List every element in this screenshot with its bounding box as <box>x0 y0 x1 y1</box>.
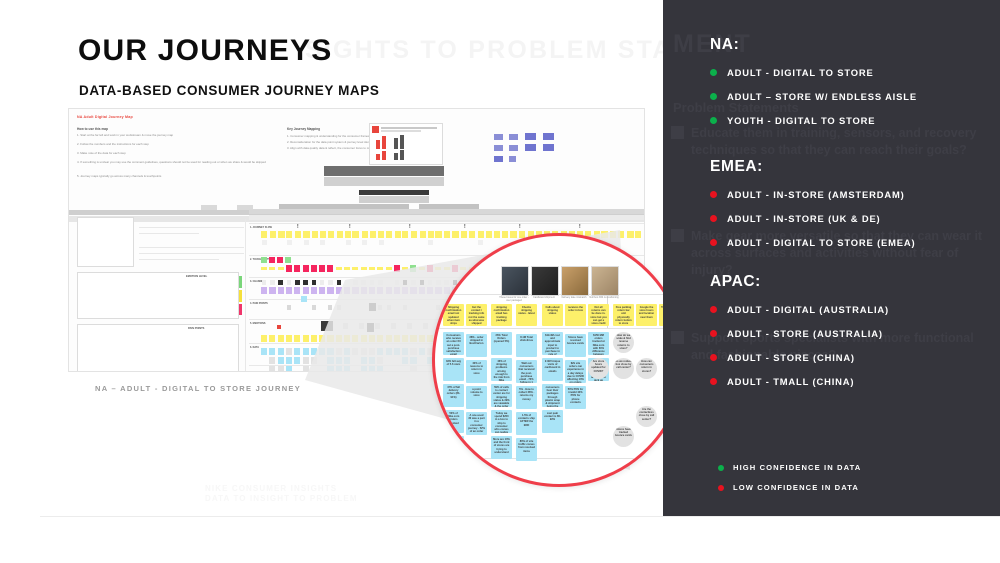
map-sticky-note <box>287 305 291 310</box>
legend-item: HIGH CONFIDENCE IN DATA <box>718 463 861 472</box>
sticky-note-text: 16%/over ship after the expected deliver… <box>443 436 464 453</box>
sticky-note-text: a point volume to store <box>466 386 487 400</box>
map-painpoint-label: PAIN POINTS <box>188 327 204 330</box>
map-sticky-note <box>286 335 292 342</box>
sticky-note-text: cast pain contact is 80-92% <box>542 410 563 424</box>
map-sticky-note <box>269 348 275 355</box>
sticky-note-text: $150 MM orders tracked at Nike.com with … <box>588 332 609 355</box>
map-table-strip-1 <box>324 166 444 176</box>
magnifier-cyan-note: cast pain contact is 80-92% <box>542 410 563 433</box>
map-emotion-label: EMOTION LEVEL <box>186 275 207 278</box>
map-row-label-5: 5. EMOTIONS <box>250 322 265 325</box>
map-sticky-note <box>295 280 300 285</box>
low-confidence-dot-icon <box>710 306 717 313</box>
map-row-label-4: 4. PAIN POINTS <box>250 302 268 305</box>
sticky-note-text: Checks shipping status - latest <box>516 304 537 318</box>
map-sticky-note <box>278 267 284 270</box>
high-confidence-dot-icon <box>710 117 717 124</box>
sticky-note-text: Are store hours updated for COVID? <box>588 358 609 375</box>
sticky-note-text: Calls about shipping status <box>542 304 563 318</box>
magnifier-yellow-note: shipping confirmation email has tracking… <box>491 304 512 326</box>
journey-item-label: ADULT - DIGITAL (AUSTRALIA) <box>727 304 889 315</box>
magnifier-cyan-note: Stores have resolved bounce cards <box>565 334 586 357</box>
magnifier-cyan-note: More are 10% and the front of stores are… <box>491 436 512 459</box>
sticky-note-text: 40% of reasons to return in store <box>466 360 487 377</box>
legend-dot-icon <box>718 485 724 491</box>
map-sticky-note <box>277 257 283 263</box>
journey-item-label: ADULT - IN-STORE (AMSTERDAM) <box>727 189 905 200</box>
magnifier-cyan-note: 80% of site traffic comes from received … <box>516 438 537 461</box>
high-confidence-dot-icon <box>710 69 717 76</box>
sticky-note-text: A one-used 30 was a part in a consumer j… <box>466 412 487 435</box>
map-sticky-note <box>261 348 267 355</box>
magnifier-yellow-note: Shipping confirmation email not updated … <box>443 304 464 326</box>
map-sticky-note <box>287 240 292 245</box>
journey-item-label: ADULT - TMALL (CHINA) <box>727 376 854 387</box>
sticky-note-text: 59% of calls to contact center are for s… <box>491 384 512 407</box>
map-row-label-1: 1. JOURNEY FLOW <box>250 226 272 229</box>
sticky-note-text: 2.4M Unique visits of cardboard in email… <box>542 358 563 375</box>
map-table-strip-2 <box>324 177 444 186</box>
magnifier-yellow-note: Not all returns can be done in-store but… <box>588 304 609 326</box>
journey-item-label: ADULT - STORE (AUSTRALIA) <box>727 328 883 339</box>
map-row-label-2: 2. TOUCHPOINTS <box>250 258 270 261</box>
map-sticky-note <box>261 335 267 342</box>
map-sticky-note <box>269 366 275 372</box>
magnifier-cyan-note: 40% of reasons to return in store <box>466 360 487 383</box>
magnifier-grey-question-note: Are store hours updated for COVID? <box>588 358 609 379</box>
sticky-note-text: Google the store hours and location near… <box>636 304 657 321</box>
sticky-note-text: 38% - order shipped in Box/Carton <box>466 334 487 348</box>
map-sticky-note <box>286 348 292 355</box>
magnifier-cyan-note: 16%/over ship after the expected deliver… <box>443 436 464 459</box>
magnifier-cyan-note: 2.4M Unique visits of cardboard in email… <box>542 358 563 381</box>
magnifier-cyan-note: 59% of calls to contact center are for s… <box>491 384 512 407</box>
magnifier-grey-question-note: How can consumers return in stores? <box>636 358 657 379</box>
journey-list-item[interactable]: ADULT - IN-STORE (UK & DE) <box>710 213 916 224</box>
map-sticky-note <box>269 287 275 294</box>
map-sticky-note <box>286 357 292 364</box>
sticky-note-text: 1.5% of contacts ship AFTER the EDD <box>516 412 537 429</box>
map-sticky-note <box>269 357 275 364</box>
magnifier-cyan-note: Wall out consumers that received the pos… <box>516 360 537 383</box>
low-confidence-dot-icon <box>710 239 717 246</box>
map-emotion-grid: EMOTION LEVEL <box>77 272 239 319</box>
magnifier-yellow-note: Google the store hours and location near… <box>636 304 657 326</box>
sticky-note-text: Shipping confirmation email not updated … <box>443 304 464 326</box>
legend-item: LOW CONFIDENCE IN DATA <box>718 483 861 492</box>
sticky-note-text: 32% felt avg of 5.6 stars <box>443 358 464 368</box>
map-emotion-scale-red <box>239 304 242 315</box>
map-sticky-note <box>278 348 284 355</box>
journey-item-label: ADULT - STORE (CHINA) <box>727 352 855 363</box>
region-heading: NA: <box>710 36 917 54</box>
map-doc-title: NA Adult Digital Journey Map <box>77 115 133 119</box>
magnifier-photo-caption: Delivery date mismatch <box>559 296 589 299</box>
map-sticky-note <box>269 267 275 270</box>
legend-label: LOW CONFIDENCE IN DATA <box>733 483 859 492</box>
page-subtitle: DATA-BASED CONSUMER JOURNEY MAPS <box>79 83 379 98</box>
map-painpoint-grid: PAIN POINTS <box>77 324 239 372</box>
journey-list-item[interactable]: ADULT - DIGITAL TO STORE <box>710 67 917 78</box>
journey-list-item[interactable]: ADULT - STORE (AUSTRALIA) <box>710 328 889 339</box>
map-sticky-note <box>262 280 267 285</box>
region-heading: APAC: <box>710 273 889 291</box>
sticky-note-text: 46% of shipping problems arising enough … <box>491 358 512 381</box>
magnifier-cyan-note: Consumers who receive an order fill out … <box>443 332 464 355</box>
magnifier-cyan-note: 47% of fall delivery orders (84-91%) <box>443 384 464 407</box>
magnifier-cyan-note: A one-used 30 was a part in a consumer j… <box>466 412 487 435</box>
journey-list-item[interactable]: ADULT - DIGITAL TO STORE (EMEA) <box>710 237 916 248</box>
sticky-note-text: Get the contact / tracking info not the … <box>466 304 487 326</box>
map-sticky-note <box>269 335 275 342</box>
map-sticky-note <box>278 366 284 372</box>
map-sticky-note <box>261 231 267 238</box>
journey-list-item[interactable]: ADULT - STORE (CHINA) <box>710 352 889 363</box>
magnifier-photo-thumbnail <box>501 266 529 296</box>
journey-list-item[interactable]: ADULT - IN-STORE (AMSTERDAM) <box>710 189 916 200</box>
sticky-note-text: 26% Total Orders (opened 5%) <box>491 332 512 346</box>
magnifier-photo-thumbnail <box>561 266 589 296</box>
journey-item-label: YOUTH - DIGITAL TO STORE <box>727 115 875 126</box>
legend-dot-icon <box>718 465 724 471</box>
page-title: OUR JOURNEYS <box>78 34 332 68</box>
map-sticky-note <box>287 280 292 285</box>
low-confidence-dot-icon <box>710 215 717 222</box>
magnifier-grey-question-note: Are the contactless close by call center… <box>636 406 657 427</box>
sticky-note-text: 47% of fall delivery orders (84-91%) <box>443 384 464 401</box>
magnifier-grey-question-note: How do we scale & find reverse returns t… <box>613 332 634 353</box>
map-sticky-note <box>285 257 291 263</box>
high-confidence-dot-icon <box>710 93 717 100</box>
magnifier-photo-thumbnail <box>531 266 559 296</box>
panel-ghost-bullet-2 <box>671 229 684 242</box>
journey-list-item[interactable]: ADULT - DIGITAL (AUSTRALIA) <box>710 304 889 315</box>
sticky-note-text: Are the contactless close by call center… <box>636 406 657 423</box>
map-emotion-scale-yellow <box>239 290 242 302</box>
map-sticky-note <box>277 325 281 329</box>
magnifier-yellow-note: Checks shipping status - latest <box>516 304 537 326</box>
sticky-note-text: Today we spend $200 in a box to ship to … <box>491 410 512 433</box>
map-emotion-scale-green <box>239 276 242 288</box>
sticky-note-text: Not all returns can be done in-store but… <box>588 304 609 326</box>
magnifier-yellow-note: receives the order in box <box>565 304 586 326</box>
magnifier-cyan-note: 50% POS for invalid 42% POS for phone co… <box>565 386 586 409</box>
map-row-label-6: 6. DATA <box>250 346 259 349</box>
sticky-note-text: $2k site orders can experience in a day … <box>565 360 586 383</box>
sticky-note-text: 8.1M Total click-thrus <box>516 334 537 344</box>
map-sticky-note <box>278 287 284 294</box>
map-sticky-note <box>278 357 284 364</box>
journey-item-label: ADULT - IN-STORE (UK & DE) <box>727 213 881 224</box>
sticky-note-text: More are 10% and the front of stores are… <box>491 436 512 456</box>
sticky-note-text: 50% of Nike.com orders checked <box>443 410 464 427</box>
journey-list-item[interactable]: YOUTH - DIGITAL TO STORE <box>710 115 917 126</box>
legend-label: HIGH CONFIDENCE IN DATA <box>733 463 861 472</box>
sticky-note-text: 50% POS for invalid 42% POS for phone co… <box>565 386 586 406</box>
low-confidence-dot-icon <box>710 330 717 337</box>
map-sticky-note <box>278 280 283 285</box>
magnifier-yellow-note: Free parking return bar unit physically … <box>613 304 634 326</box>
magnifier-cyan-note: a point volume to store <box>466 386 487 409</box>
map-instruction-1: 1. Start at the far left and work in you… <box>77 133 257 137</box>
journey-list-item[interactable]: ADULT - TMALL (CHINA) <box>710 376 889 387</box>
map-sticky-note <box>286 231 292 238</box>
map-sticky-note <box>278 231 284 238</box>
sticky-note-text: Stores have tracked bounce cards <box>613 426 634 440</box>
region-group-apac: APAC:ADULT - DIGITAL (AUSTRALIA)ADULT - … <box>710 273 889 387</box>
map-instructions-heading: How to use this map <box>77 127 108 131</box>
region-heading: EMEA: <box>710 158 916 176</box>
magnifier-cyan-note: 32% felt avg of 5.6 stars <box>443 358 464 381</box>
map-sticky-note <box>261 267 267 270</box>
magnifier-yellow-note: Get the contact / tracking info not the … <box>466 304 487 326</box>
sticky-note-text: receives the order in box <box>565 304 586 314</box>
journey-item-label: ADULT – STORE W/ ENDLESS AISLE <box>727 91 917 102</box>
map-mini-chart-card <box>369 123 443 165</box>
panel-ghost-bullet-3 <box>671 331 684 344</box>
journey-list-item[interactable]: ADULT – STORE W/ ENDLESS AISLE <box>710 91 917 102</box>
map-sticky-note <box>286 366 292 372</box>
magnifier-yellow-note: Calls about shipping status <box>542 304 563 326</box>
magnifier-photo-caption: These boxes for one order - over package… <box>499 296 529 302</box>
map-preview-note-1 <box>139 217 244 221</box>
low-confidence-dot-icon <box>710 191 717 198</box>
sticky-note-text: consumers hear their packages through pl… <box>542 384 563 407</box>
journey-item-label: ADULT - DIGITAL TO STORE (EMEA) <box>727 237 916 248</box>
map-legend-heading: Key Journey Mapping <box>287 127 320 131</box>
panel-ghost-bullet-1 <box>671 126 684 139</box>
magnifier-cyan-note: consumers hear their packages through pl… <box>542 384 563 407</box>
map-sticky-note <box>261 257 267 263</box>
low-confidence-dot-icon <box>710 378 717 385</box>
magnifier-grey-question-note: Stores have tracked bounce cards <box>613 426 634 447</box>
magnifier-cyan-note: 50% of Nike.com orders checked <box>443 410 464 433</box>
map-alert-marker-icon: ! <box>297 224 299 230</box>
magnifier-cyan-note: 46% of shipping problems arising enough … <box>491 358 512 381</box>
sticky-note-text: shipping confirmation email has tracking… <box>491 304 512 324</box>
map-sticky-note <box>261 287 267 294</box>
sticky-note-text: $19.3M cost and approximate input to pro… <box>542 332 563 355</box>
map-sticky-note <box>286 265 292 272</box>
magnifier-content: These boxes for one order - over package… <box>435 236 683 484</box>
magnifier-cyan-note: 26% Total Orders (opened 5%) <box>491 332 512 355</box>
map-table-strip-3 <box>359 190 429 195</box>
magnifier-cyan-note: 38% - order shipped in Box/Carton <box>466 334 487 357</box>
map-sticky-note <box>278 335 284 342</box>
sticky-note-text: 80% of site traffic comes from received … <box>516 438 537 455</box>
magnifier-cyan-note: 8.1M Total click-thrus <box>516 334 537 357</box>
confidence-legend: HIGH CONFIDENCE IN DATALOW CONFIDENCE IN… <box>718 463 861 503</box>
magnifier-cyan-note: $19.3M cost and approximate input to pro… <box>542 332 563 355</box>
sticky-note-text: Stores have resolved bounce cards <box>565 334 586 348</box>
magnifier-photo-caption: Null box 30lb no cushioning <box>589 296 619 299</box>
sticky-note-text: Free parking return bar unit physically … <box>613 304 634 326</box>
sticky-note-text: How can consumers return in stores? <box>636 358 657 375</box>
magnifier-grey-question-note: Do we reduce box close by call center? <box>613 358 634 379</box>
journey-map-caption: NA – ADULT - DIGITAL TO STORE JOURNEY <box>95 384 301 393</box>
map-sticky-note <box>286 287 292 294</box>
map-sticky-note <box>262 240 267 245</box>
magnifier-cyan-note: Today we spend $200 in a box to ship to … <box>491 410 512 433</box>
region-group-na: NA:ADULT - DIGITAL TO STOREADULT – STORE… <box>710 36 917 126</box>
panel-ghost-body-1: Educate them in training, sensors, and r… <box>691 125 991 159</box>
sticky-note-text: 5% - How to collect 28% - returns my mon… <box>516 386 537 403</box>
sticky-note-text: Wall out consumers that received the pos… <box>516 360 537 383</box>
map-sticky-note <box>270 231 276 238</box>
map-instruction-3: 3. Make note of the data for each step <box>77 151 257 155</box>
magnifier-cyan-note: 1.5% of contacts ship AFTER the EDD <box>516 412 537 435</box>
sticky-note-text: Consumers who receive an order fill out … <box>443 332 464 355</box>
sticky-note-text: Do we reduce box close by call center? <box>613 358 634 372</box>
magnifier-cyan-note: 5% - How to collect 28% - returns my mon… <box>516 386 537 409</box>
map-tab-a <box>201 205 217 210</box>
magnifier-cyan-note: $150 MM orders tracked at Nike.com with … <box>588 332 609 355</box>
map-sticky-note <box>270 280 275 285</box>
journey-item-label: ADULT - DIGITAL TO STORE <box>727 67 874 78</box>
map-sticky-note <box>269 257 275 263</box>
map-instruction-4: 4. If something is unclear you may use t… <box>77 160 267 164</box>
magnifier-lens[interactable]: These boxes for one order - over package… <box>432 233 686 487</box>
sticky-note-text: How do we scale & find reverse returns t… <box>613 332 634 352</box>
region-group-emea: EMEA:ADULT - IN-STORE (AMSTERDAM)ADULT -… <box>710 158 916 248</box>
magnifier-photo-thumbnail <box>591 266 619 296</box>
map-table-strip-4 <box>359 196 429 203</box>
map-instruction-5: 5. Journey maps typically go across many… <box>77 174 257 178</box>
map-preview-card <box>77 217 134 267</box>
magnifier-photo-caption: Cardboard shipment <box>529 296 559 299</box>
magnifier-cyan-note: $2k site orders can experience in a day … <box>565 360 586 383</box>
map-instruction-2: 2. Follow the numbers and the instructio… <box>77 142 257 146</box>
slide-canvas: SIGHTS TO PROBLEM STATEMENT NIKE CONSUME… <box>0 0 1000 563</box>
low-confidence-dot-icon <box>710 354 717 361</box>
